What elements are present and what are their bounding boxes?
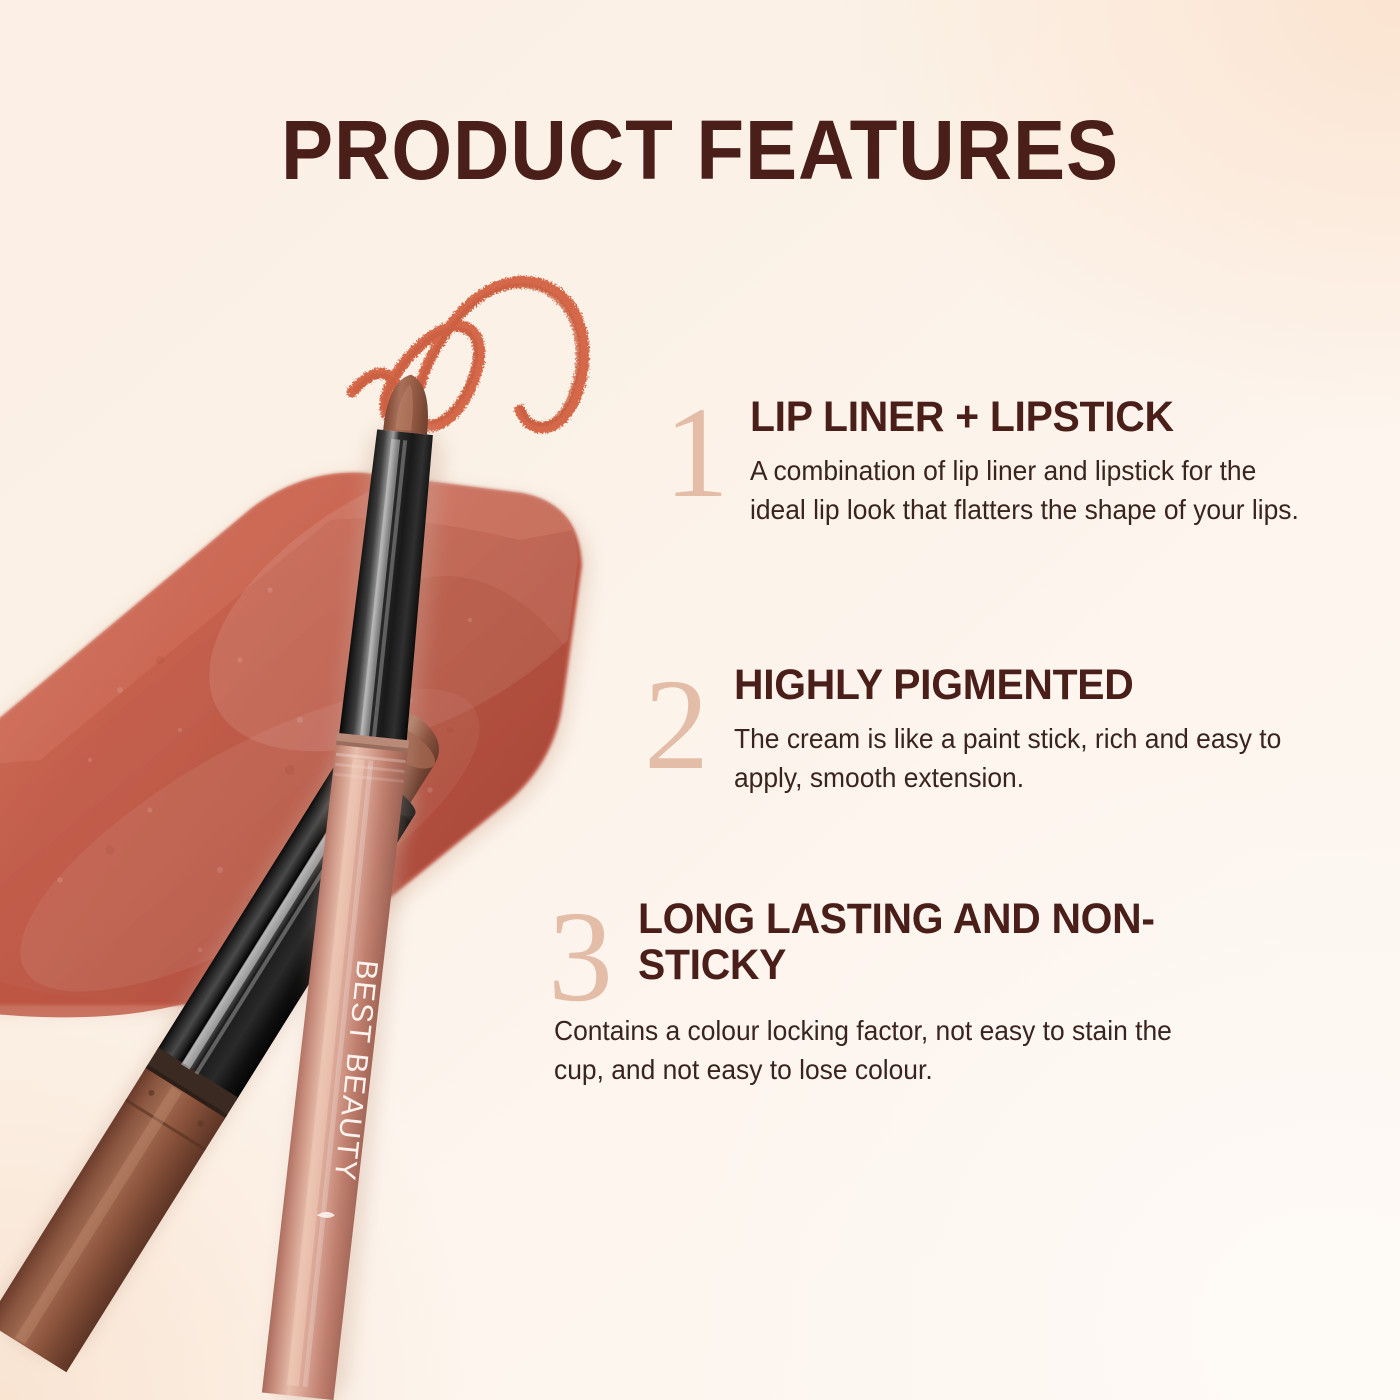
feature-item-3: 3 LONG LASTING AND NON-STICKY Contains a…	[548, 896, 1228, 1089]
feature-item-2: 2 HIGHLY PIGMENTED The cream is like a p…	[644, 662, 1334, 798]
page-title: PRODUCT FEATURES	[49, 108, 1351, 192]
feature-body-1: A combination of lip liner and lipstick …	[750, 451, 1301, 529]
feature-number-2: 2	[644, 660, 709, 790]
feature-heading-2: HIGHLY PIGMENTED	[734, 662, 1304, 708]
product-features-poster: BEST BEAUTY PRODUCT FEATURES 1 LIP LINER…	[0, 0, 1400, 1400]
feature-heading-1: LIP LINER + LIPSTICK	[750, 394, 1295, 440]
lip-liner-scribble	[352, 281, 584, 428]
feature-body-2: The cream is like a paint stick, rich an…	[734, 719, 1310, 797]
feature-body-3: Contains a colour locking factor, not ea…	[554, 1011, 1201, 1089]
feature-number-1: 1	[664, 388, 729, 518]
feature-item-1: 1 LIP LINER + LIPSTICK A combination of …	[664, 394, 1324, 530]
feature-heading-3: LONG LASTING AND NON-STICKY	[638, 896, 1199, 989]
feature-number-3: 3	[548, 892, 613, 1022]
